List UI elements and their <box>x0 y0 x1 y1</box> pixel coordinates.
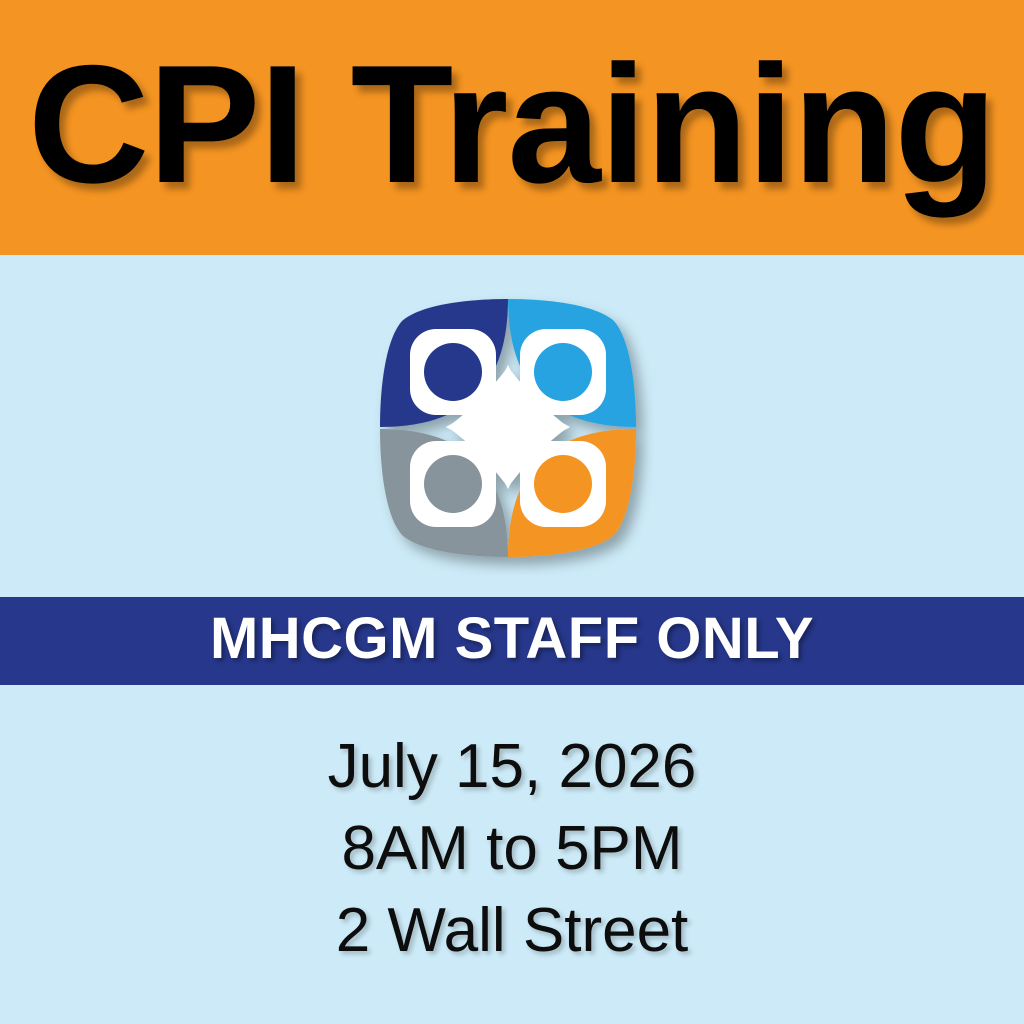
event-date: July 15, 2026 <box>328 726 697 808</box>
event-location: 2 Wall Street <box>336 890 689 972</box>
page-title: CPI Training <box>28 40 996 208</box>
staff-only-band: MHCGM STAFF ONLY <box>0 597 1024 685</box>
flyer-canvas: CPI Training <box>0 0 1024 1024</box>
mhcgm-pinwheel-logo-icon <box>362 281 654 575</box>
staff-only-label: MHCGM STAFF ONLY <box>210 610 814 668</box>
event-details: July 15, 2026 8AM to 5PM 2 Wall Street <box>0 726 1024 972</box>
event-time: 8AM to 5PM <box>341 808 682 890</box>
header-band: CPI Training <box>0 0 1024 255</box>
